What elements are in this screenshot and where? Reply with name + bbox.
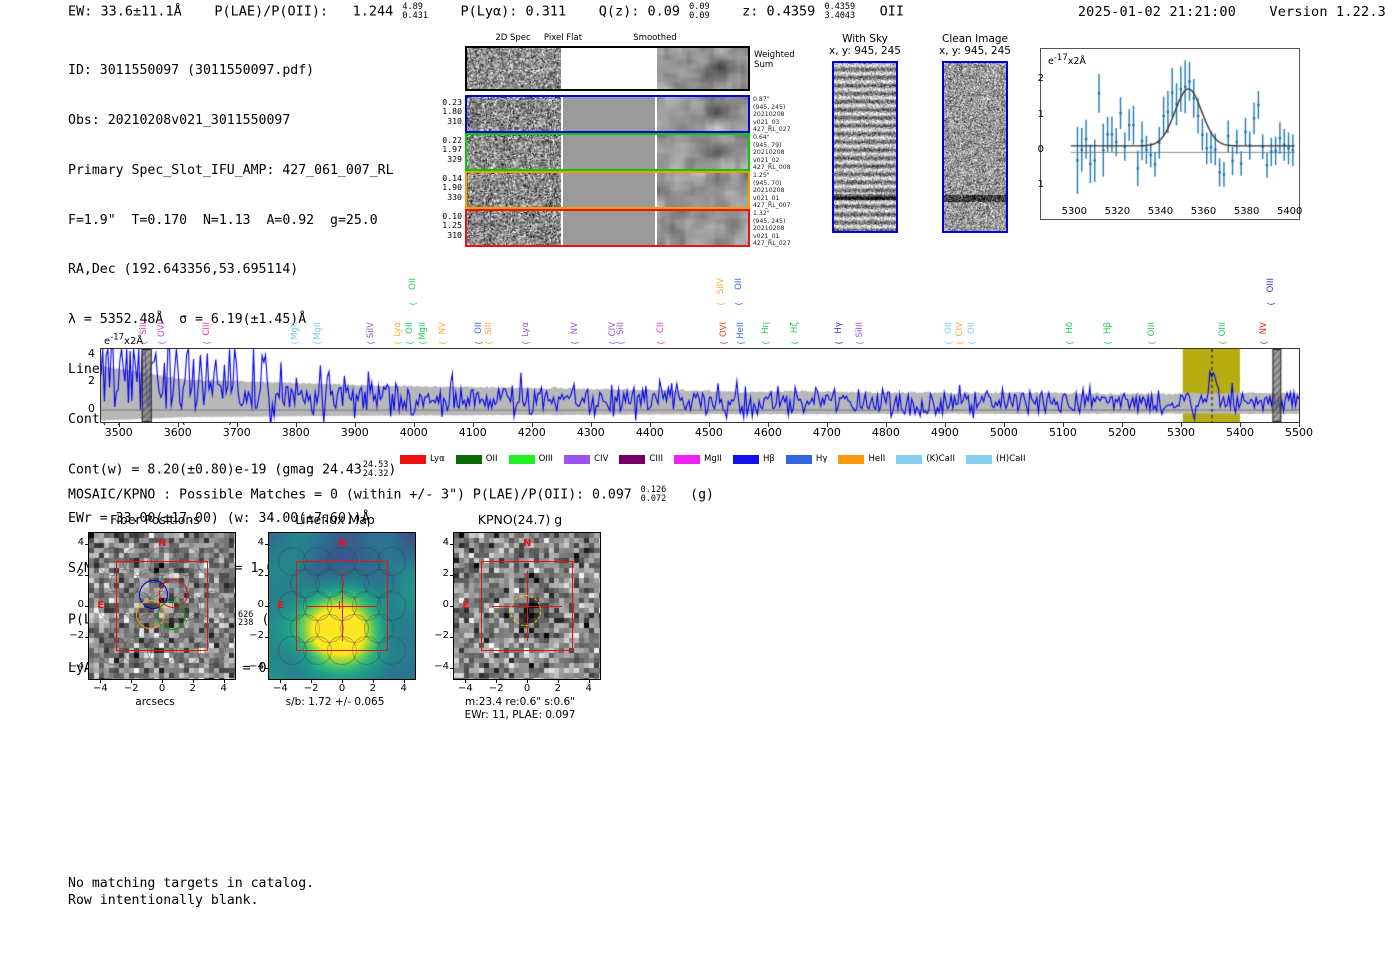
spectrum-line-bracket: (	[409, 302, 419, 306]
spectrum-legend: LyαOIIOIIICIVCIIIMgIIHβHγHeII(K)CaII(H)C…	[400, 452, 1037, 466]
header-plae-poii-range: 4.890.431	[402, 3, 428, 20]
spectrum-line-label: OIII	[1219, 322, 1228, 336]
cutout-clean-subtitle: x, y: 945, 245	[925, 45, 1025, 57]
panel-xtick-mark	[162, 680, 163, 683]
spec2d-left-label: 330	[420, 193, 462, 202]
spectrum-line-label: HeII	[737, 322, 746, 339]
compass-east: E	[97, 600, 104, 611]
spec2d-right-label: 20210208	[753, 225, 791, 233]
panel-xtick: 4	[577, 683, 601, 694]
spec2d-row-0	[465, 95, 750, 133]
spectrum-xtick-mark	[296, 423, 297, 427]
header-qz-label: Q(z): 0.09	[599, 4, 680, 20]
spectrum-line-bracket: (	[791, 341, 801, 345]
spectrum-line-bracket: (	[945, 341, 955, 345]
panel-ytick-mark	[85, 637, 88, 638]
legend-swatch	[619, 455, 645, 464]
target-marker	[159, 601, 160, 609]
fit-ytick: 1	[1026, 179, 1044, 190]
spectrum-line-bracket: (	[475, 341, 485, 345]
fit-plot-units-label: e-17x2Å	[1048, 56, 1086, 67]
panel-ytick-mark	[450, 637, 453, 638]
spec2d-right-label: 20210208	[753, 149, 791, 157]
spectrum-xtick: 5100	[1040, 426, 1086, 439]
spec2d-row-1-right-labels: 0.64"(945, 79)20210208v021_02427_RL_008	[753, 134, 791, 172]
info-line-obs: Obs: 20210208v021_3011550097	[68, 113, 396, 130]
legend-swatch	[456, 455, 482, 464]
legend-swatch	[509, 455, 535, 464]
spectrum-line-bracket: (	[762, 341, 772, 345]
legend-item: OIII	[509, 454, 553, 464]
legend-item: (H)CaII	[966, 454, 1026, 464]
spectrum-line-bracket: (	[571, 341, 581, 345]
spectrum-xtick-mark	[178, 423, 179, 427]
cutout-with-sky: With Sky x, y: 945, 245	[820, 33, 910, 248]
header-qz-range: 0.090.09	[689, 3, 709, 20]
legend-label: MgII	[704, 454, 722, 464]
spectrum-line-label: NV	[439, 322, 448, 334]
legend-item: (K)CaII	[896, 454, 955, 464]
panel-xtick-mark	[558, 680, 559, 683]
panel-ytick: 2	[429, 568, 449, 579]
fit-xtick: 5300	[1054, 206, 1094, 217]
panel-ytick: 4	[64, 537, 84, 548]
panel-xtick: 2	[546, 683, 570, 694]
panel-xtick-mark	[100, 680, 101, 683]
spectrum-xtick: 4800	[863, 426, 909, 439]
spec2d-right-label: v021_01	[753, 195, 791, 203]
spectrum-xtick: 4000	[391, 426, 437, 439]
fit-xtick: 5320	[1097, 206, 1137, 217]
spectrum-line-label: SiIII	[856, 322, 865, 337]
panel-ytick-mark	[85, 668, 88, 669]
spectrum-xtick: 4700	[804, 426, 850, 439]
panel-ytick: 4	[429, 537, 449, 548]
spectrum-line-label: CIV	[956, 322, 965, 336]
legend-label: (K)CaII	[926, 454, 955, 464]
spectrum-xtick-mark	[1122, 423, 1123, 427]
panel-ytick-mark	[85, 544, 88, 545]
cutout-clean-title: Clean Image	[925, 33, 1025, 45]
spectrum-line-label: OII	[409, 278, 418, 290]
spectrum-line-bracket: (	[291, 341, 301, 345]
legend-item: Hγ	[786, 454, 828, 464]
spectrum-line-bracket: (	[720, 341, 730, 345]
spectrum-xtick-mark	[945, 423, 946, 427]
spec2d-right-label: v021_03	[753, 119, 791, 127]
panel-ytick-mark	[265, 575, 268, 576]
panel-xtick-mark	[404, 680, 405, 683]
panel-xtick-mark	[193, 680, 194, 683]
spectrum-xtick: 3700	[214, 426, 260, 439]
spec2d-right-label: v021_01	[753, 233, 791, 241]
spec2d-row-2-right-labels: 1.25"(945, 70)20210208v021_01427_RL_007	[753, 172, 791, 210]
spectrum-line-bracket: (	[617, 341, 627, 345]
spectrum-line-label: Hγ	[835, 322, 844, 334]
panel-ytick: 4	[244, 537, 264, 548]
spec2d-row-1	[465, 133, 750, 171]
panel-xtick: 0	[330, 683, 354, 694]
spec2d-right-label: 1.25"	[753, 172, 791, 180]
panel-title-lineflux-map: Lineflux Map	[240, 512, 430, 527]
panel-xtick-mark	[465, 680, 466, 683]
version-text: Version 1.22.3	[1269, 4, 1386, 20]
spec2d-right-label: 20210208	[753, 111, 791, 119]
panel-ytick: −4	[64, 661, 84, 672]
spectrum-line-bracket: (	[1260, 341, 1270, 345]
spectrum-line-bracket: (	[1148, 341, 1158, 345]
spectrum-xtick-mark	[119, 423, 120, 427]
header-z-species: OII	[880, 4, 904, 20]
header-plya: P(Lyα): 0.311	[460, 4, 566, 20]
spectrum-line-label: SiIV	[367, 322, 376, 338]
spectrum-line-label: OVI	[720, 322, 729, 337]
spectrum-xtick-mark	[355, 423, 356, 427]
spectrum-line-label: SiII	[485, 322, 494, 335]
panel-ytick-mark	[450, 668, 453, 669]
mosaic-plae-range: 0.1260.072	[641, 486, 667, 503]
spectrum-xtick: 4400	[627, 426, 673, 439]
spectrum-line-label: OII	[475, 322, 484, 334]
spectrum-line-bracket: (	[737, 341, 747, 345]
panel-ytick-mark	[85, 575, 88, 576]
spec2d-right-label: 0.64"	[753, 134, 791, 142]
spectrum-xtick: 5000	[981, 426, 1027, 439]
spec2d-right-label: (945, 245)	[753, 218, 791, 226]
spectrum-xtick-mark	[1063, 423, 1064, 427]
legend-swatch	[564, 455, 590, 464]
spec2d-right-label: (945, 70)	[753, 180, 791, 188]
legend-swatch	[966, 455, 992, 464]
panel-ytick-mark	[265, 668, 268, 669]
compass-north: N	[523, 538, 531, 549]
legend-label: Hβ	[763, 454, 775, 464]
emission-line-fit-plot	[1040, 48, 1300, 220]
spectrum-line-bracket: (	[522, 341, 532, 345]
spectrum-xtick-mark	[886, 423, 887, 427]
legend-item: HeII	[838, 454, 885, 464]
legend-swatch	[838, 455, 864, 464]
spec2d-row-1-left-labels: 0.221.97329	[420, 136, 462, 164]
legend-item: CIV	[564, 454, 608, 464]
spectrum-line-label: Lyα	[522, 322, 531, 337]
header-ew: EW: 33.6±11.1Å	[68, 4, 182, 20]
mosaic-prefix: MOSAIC/KPNO : Possible Matches = 0 (with…	[68, 488, 632, 503]
spectrum-line-label: CII	[657, 322, 666, 333]
spectrum-ytick: 4	[79, 347, 95, 360]
spec2d-row-3-right-labels: 1.32"(945, 245)20210208v021_01427_RL_027	[753, 210, 791, 248]
fit-ytick: 0	[1026, 144, 1044, 155]
fit-xtick: 5400	[1270, 206, 1310, 217]
panel-xtick-mark	[527, 680, 528, 683]
target-marker	[339, 601, 340, 609]
spectrum-xtick: 4600	[745, 426, 791, 439]
spectrum-line-bracket: (	[158, 341, 168, 345]
spectrum-line-bracket: (	[485, 341, 495, 345]
panel-ytick: −4	[429, 661, 449, 672]
spectrum-line-bracket: (	[394, 341, 404, 345]
panel-xtick: 0	[515, 683, 539, 694]
panel-caption-kpno: m:23.4 re:0.6" s:0.6"	[425, 696, 615, 709]
legend-label: OIII	[539, 454, 553, 464]
legend-label: HeII	[868, 454, 885, 464]
spec2d-right-label: (945, 79)	[753, 142, 791, 150]
panel-caption-lineflux-map: s/b: 1.72 +/- 0.065	[240, 696, 430, 709]
spectrum-line-bracket: (	[314, 341, 324, 345]
panel-xlabel-fiber-positions: arcsecs	[60, 696, 250, 709]
panel-ytick-mark	[265, 637, 268, 638]
spectrum-line-label: MgII	[314, 322, 323, 340]
spectrum-xtick-mark	[591, 423, 592, 427]
panel-ytick-mark	[265, 606, 268, 607]
panel-xtick-mark	[589, 680, 590, 683]
spectrum-xtick-mark	[1004, 423, 1005, 427]
info-line-seeing: F=1.9" T=0.170 N=1.13 A=0.92 g=25.0	[68, 213, 396, 230]
spectrum-line-label: Hζ	[791, 322, 800, 333]
panel-xtick: 4	[392, 683, 416, 694]
spec2d-row-3	[465, 209, 750, 247]
compass-east: E	[462, 600, 469, 611]
spectrum-xtick: 3500	[96, 426, 142, 439]
spectrum-xtick: 5300	[1158, 426, 1204, 439]
spectrum-xtick-mark	[1181, 423, 1182, 427]
panel-ytick: −2	[64, 630, 84, 641]
spectrum-line-label: NV	[571, 322, 580, 334]
spec2d-right-label: 0.87"	[753, 96, 791, 104]
spectrum-line-bracket: (	[203, 341, 213, 345]
aperture-circle	[510, 595, 541, 626]
legend-label: Lyα	[430, 454, 445, 464]
panel-xtick: −4	[88, 683, 112, 694]
legend-label: OII	[486, 454, 498, 464]
spectrum-line-bracket: (	[735, 302, 745, 306]
spectrum-line-bracket: (	[1267, 302, 1277, 306]
compass-east: E	[277, 600, 284, 611]
panel-caption2-kpno: EWr: 11, PLAE: 0.097	[425, 709, 615, 722]
spectrum-xtick-mark	[709, 423, 710, 427]
spectrum-xtick-mark	[650, 423, 651, 427]
spectrum-xtick: 3900	[332, 426, 378, 439]
legend-item: CIII	[619, 454, 663, 464]
fit-xtick: 5340	[1140, 206, 1180, 217]
spectrum-line-label: NV	[1260, 322, 1269, 334]
legend-swatch	[674, 455, 700, 464]
spectrum-xtick-mark	[237, 423, 238, 427]
header-plae-poii-value: 1.244	[353, 4, 394, 20]
spec2d-row-2	[465, 171, 750, 209]
spec2d-left-label: 310	[420, 117, 462, 126]
spectrum-line-label: Lyα	[394, 322, 403, 337]
legend-label: (H)CaII	[996, 454, 1026, 464]
spectrum-xtick-mark	[532, 423, 533, 427]
spec2d-col-header-smoothed: Smoothed	[620, 33, 690, 43]
spectrum-line-label: Hη	[762, 322, 771, 334]
cutout-clean-image-image	[942, 61, 1008, 233]
spectrum-line-label: OIII	[1267, 278, 1276, 292]
spec2d-right-label: 427_RL_007	[753, 202, 791, 210]
panel-ytick: 0	[429, 599, 449, 610]
legend-swatch	[400, 455, 426, 464]
spectrum-xtick-mark	[1240, 423, 1241, 427]
fit-ytick: 2	[1026, 73, 1044, 84]
spec2d-left-label: 310	[420, 231, 462, 240]
panel-ytick-mark	[450, 544, 453, 545]
image-panel-lineflux-map: Lineflux Map s/b: 1.72 +/- 0.065 NE	[240, 512, 430, 712]
spec2d-weighted-sum-box	[465, 46, 750, 91]
legend-label: Hγ	[816, 454, 828, 464]
panel-xtick: −4	[268, 683, 292, 694]
spec2d-right-label: 427_RL_027	[753, 240, 791, 248]
spectrum-line-bracket: (	[439, 341, 449, 345]
panel-ytick-mark	[450, 606, 453, 607]
spectrum-xtick-mark	[1299, 423, 1300, 427]
cutout-with-sky-image	[832, 61, 898, 233]
spec2d-row-2-left-labels: 0.141.90330	[420, 174, 462, 202]
spec2d-right-label: v021_02	[753, 157, 791, 165]
legend-label: CIV	[594, 454, 608, 464]
panel-xtick-mark	[311, 680, 312, 683]
spec2d-row-0-right-labels: 0.87"(945, 245)20210208v021_03427_RL_027	[753, 96, 791, 134]
spectrum-line-label: SiIV	[717, 278, 726, 294]
spectrum-xtick-mark	[414, 423, 415, 427]
header-z-label: z: 0.4359	[742, 4, 815, 20]
spec2d-left-label: 329	[420, 155, 462, 164]
panel-ytick: −2	[244, 630, 264, 641]
spectrum-xtick: 3800	[273, 426, 319, 439]
spectrum-xtick-mark	[768, 423, 769, 427]
info-line-primary: Primary Spec_Slot_IFU_AMP: 427_061_007_R…	[68, 163, 396, 180]
panel-xtick: −4	[453, 683, 477, 694]
image-panel-fiber-positions: Fiber Positions arcsecs NE	[60, 512, 250, 712]
compass-north: N	[158, 538, 166, 549]
legend-label: CIII	[649, 454, 663, 464]
fit-ytick: 1	[1026, 109, 1044, 120]
panel-xtick: −2	[299, 683, 323, 694]
panel-xtick: −2	[119, 683, 143, 694]
panel-xtick-mark	[496, 680, 497, 683]
spectrum-line-label: SiII	[140, 322, 149, 335]
panel-ytick: 2	[64, 568, 84, 579]
spectrum-ytick: 2	[79, 374, 95, 387]
legend-swatch	[733, 455, 759, 464]
spectrum-line-bracket: (	[956, 341, 966, 345]
panel-ytick: 2	[244, 568, 264, 579]
info-line-cont-w: Cont(w) = 8.20(±0.80)e-19 (gmag 24.4324.…	[68, 461, 396, 478]
panel-xtick-mark	[342, 680, 343, 683]
spectrum-line-label: MgII	[291, 322, 300, 340]
spectrum-xtick: 4300	[568, 426, 614, 439]
spectrum-line-label: SiII	[617, 322, 626, 335]
header-summary-line: EW: 33.6±11.1Å P(LAE)/P(OII): 1.244 4.89…	[68, 3, 904, 20]
mosaic-suffix: (g)	[690, 488, 714, 503]
compass-north: N	[338, 538, 346, 549]
spec2d-row-0-left-labels: 0.231.80310	[420, 98, 462, 126]
bottom-note: No matching targets in catalog. Row inte…	[68, 875, 314, 909]
spectrum-line-label: OII	[945, 322, 954, 334]
spectrum-xtick: 4200	[509, 426, 555, 439]
panel-xtick: 0	[150, 683, 174, 694]
fit-xtick: 5360	[1184, 206, 1224, 217]
panel-xtick: 4	[212, 683, 236, 694]
panel-ytick-mark	[450, 575, 453, 576]
fit-xtick: 5380	[1227, 206, 1267, 217]
spec2d-row-3-left-labels: 0.101.25310	[420, 212, 462, 240]
legend-swatch	[786, 455, 812, 464]
cutout-with-sky-subtitle: x, y: 945, 245	[820, 45, 910, 57]
info-line-radec: RA,Dec (192.643356,53.695114)	[68, 262, 396, 279]
header-z-range: 0.43593.4043	[824, 3, 855, 20]
info-line-lambda: λ = 5352.48Å σ = 6.19(±1.45)Å	[68, 312, 396, 329]
panel-ytick: −2	[429, 630, 449, 641]
spectrum-line-bracket: (	[856, 341, 866, 345]
spec2d-right-label: 20210208	[753, 187, 791, 195]
spectrum-xtick: 4900	[922, 426, 968, 439]
legend-item: Hβ	[733, 454, 775, 464]
panel-ytick: −4	[244, 661, 264, 672]
spectrum-xtick-mark	[827, 423, 828, 427]
spectrum-xtick: 5200	[1099, 426, 1145, 439]
info-line-id: ID: 3011550097 (3011550097.pdf)	[68, 63, 396, 80]
panel-xtick: 2	[181, 683, 205, 694]
full-spectrum-plot	[100, 348, 1300, 423]
spec2d-right-label: 1.32"	[753, 210, 791, 218]
spectrum-line-bracket: (	[835, 341, 845, 345]
spectrum-line-label: Hδ	[1066, 322, 1075, 334]
panel-title-fiber-positions: Fiber Positions	[60, 512, 250, 527]
spec2d-weighted-sum-label: Weighted Sum	[754, 50, 795, 70]
spectrum-line-bracket: (	[1219, 341, 1229, 345]
panel-xtick-mark	[373, 680, 374, 683]
timestamp-text: 2025-01-02 21:21:00	[1078, 4, 1236, 20]
spectrum-line-label: MgII	[419, 322, 428, 340]
spectrum-line-bracket: (	[1066, 341, 1076, 345]
spec2d-panel: 2D Spec Pixel Flat Smoothed Weighted Sum…	[420, 33, 810, 263]
cutout-clean-image: Clean Image x, y: 945, 245	[925, 33, 1025, 248]
header-plae-poii-label: P(LAE)/P(OII):	[214, 4, 328, 20]
spectrum-xtick: 4100	[450, 426, 496, 439]
spectrum-line-bracket: (	[1104, 341, 1114, 345]
legend-swatch	[896, 455, 922, 464]
spec2d-right-label: (945, 245)	[753, 104, 791, 112]
spectrum-line-label: OII	[735, 278, 744, 290]
spectrum-line-bracket: (	[657, 341, 667, 345]
panel-xtick-mark	[131, 680, 132, 683]
spectrum-line-label: OVI	[158, 322, 167, 337]
panel-title-kpno: KPNO(24.7) g	[425, 512, 615, 527]
spectrum-line-bracket: (	[367, 341, 377, 345]
spectrum-xtick-mark	[473, 423, 474, 427]
panel-ytick-mark	[265, 544, 268, 545]
spec2d-col-header-pixelflat: Pixel Flat	[528, 33, 598, 43]
spectrum-line-bracket: (	[406, 341, 416, 345]
spectrum-xtick: 5400	[1217, 426, 1263, 439]
panel-xtick-mark	[224, 680, 225, 683]
spectrum-line-label: Hβ	[1104, 322, 1113, 334]
spectrum-ytick: 0	[79, 402, 95, 415]
spectrum-xtick: 4500	[686, 426, 732, 439]
panel-ytick: 0	[64, 599, 84, 610]
spectrum-xtick: 5500	[1276, 426, 1322, 439]
spectrum-line-label: OII	[406, 322, 415, 334]
spectrum-line-bracket: (	[717, 302, 727, 306]
panel-ytick: 0	[244, 599, 264, 610]
spec2d-right-label: 427_RL_008	[753, 164, 791, 172]
spec2d-right-label: 427_RL_027	[753, 126, 791, 134]
spectrum-xtick: 3600	[155, 426, 201, 439]
spectrum-line-label: OIII	[1148, 322, 1157, 336]
spectrum-line-bracket: (	[419, 341, 429, 345]
spectrum-line-bracket: (	[968, 341, 978, 345]
